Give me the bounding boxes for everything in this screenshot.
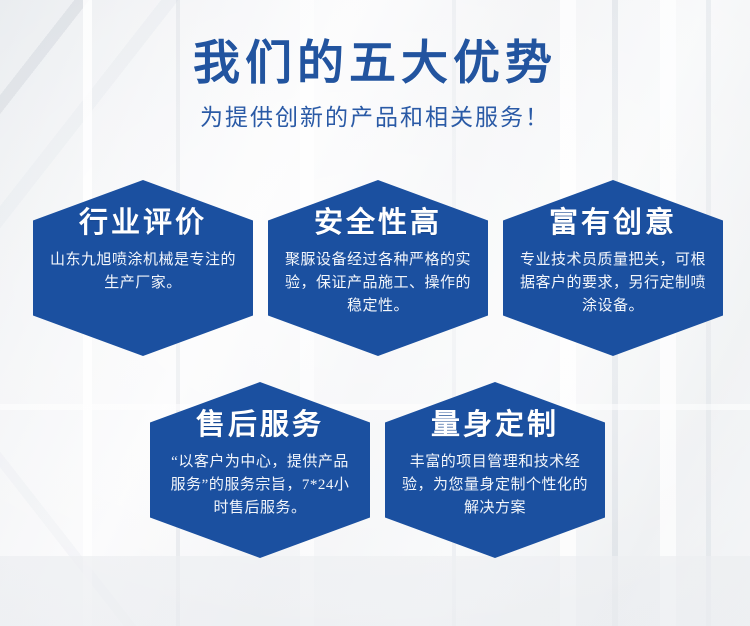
- advantage-card-creative[interactable]: 富有创意 专业技术员质量把关，可根据客户的要求，另行定制喷涂设备。: [503, 180, 723, 356]
- advantage-title: 售后服务: [196, 410, 324, 442]
- banner-heading: 我们的五大优势 为提供创新的产品和相关服务！: [0, 38, 750, 131]
- advantage-description: 专业技术员质量把关，可根据客户的要求，另行定制喷涂设备。: [517, 249, 709, 319]
- advantage-card-high-safety[interactable]: 安全性高 聚脲设备经过各种严格的实验，保证产品施工、操作的稳定性。: [268, 180, 488, 356]
- advantage-description: 丰富的项目管理和技术经验，为您量身定制个性化的解决方案: [399, 451, 591, 521]
- page-subtitle: 为提供创新的产品和相关服务！: [0, 104, 750, 132]
- page-title: 我们的五大优势: [0, 38, 750, 91]
- advantage-title: 富有创意: [549, 208, 677, 240]
- advantage-card-tailor-made[interactable]: 量身定制 丰富的项目管理和技术经验，为您量身定制个性化的解决方案: [385, 382, 605, 558]
- advantage-card-after-sales-service[interactable]: 售后服务 “以客户为中心，提供产品服务”的服务宗旨，7*24小时售后服务。: [150, 382, 370, 558]
- advantage-title: 安全性高: [314, 208, 442, 240]
- advantage-description: “以客户为中心，提供产品服务”的服务宗旨，7*24小时售后服务。: [164, 451, 356, 521]
- advantage-title: 行业评价: [79, 208, 207, 240]
- advantage-description: 聚脲设备经过各种严格的实验，保证产品施工、操作的稳定性。: [282, 249, 474, 319]
- banner-stage: 我们的五大优势 为提供创新的产品和相关服务！ 行业评价 山东九旭喷涂机械是专注的…: [0, 0, 750, 626]
- advantage-card-industry-evaluation[interactable]: 行业评价 山东九旭喷涂机械是专注的生产厂家。: [33, 180, 253, 356]
- advantage-description: 山东九旭喷涂机械是专注的生产厂家。: [47, 249, 239, 296]
- advantage-title: 量身定制: [431, 410, 559, 442]
